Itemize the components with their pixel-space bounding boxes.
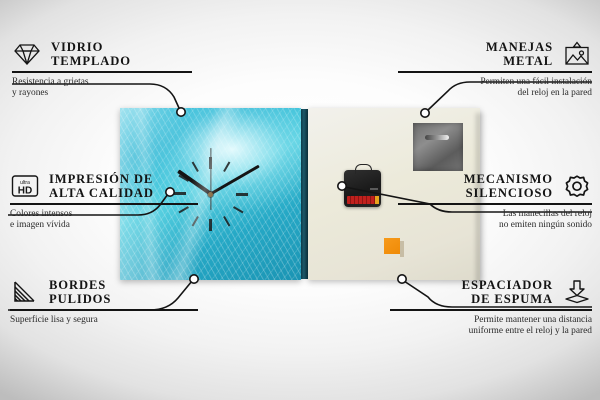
infographic-canvas: VIDRIO TEMPLADO Resistencia a grietas y …: [0, 0, 600, 400]
metal-hanger-plate: [413, 123, 463, 171]
feature-header: ESPACIADOR DE ESPUMA: [390, 278, 592, 306]
feature-subtitle-line2: uniforme entre el reloj y la pared: [390, 326, 592, 337]
feature-subtitle-line2: e imagen vívida: [10, 220, 198, 231]
feature-title: ESPACIADOR DE ESPUMA: [462, 278, 553, 306]
feature-rule: [10, 203, 198, 205]
feature-espaciador-espuma: ESPACIADOR DE ESPUMA Permite mantener un…: [390, 278, 592, 337]
feature-rule: [398, 71, 592, 73]
feature-title: IMPRESIÓN DE ALTA CALIDAD: [49, 172, 154, 200]
battery-terminal: [375, 196, 379, 204]
polished-edge-icon: [10, 279, 40, 305]
feature-subtitle-line1: Permite mantener una distancia: [390, 315, 592, 326]
feature-subtitle-line1: Colores intensos: [10, 209, 198, 220]
feature-header: ultra HD IMPRESIÓN DE ALTA CALIDAD: [10, 172, 198, 200]
feature-subtitle-line2: del reloj en la pared: [398, 88, 592, 99]
feature-title: MANEJAS METAL: [486, 40, 553, 68]
feature-subtitle-line1: Las manecillas del reloj: [398, 209, 592, 220]
foam-spacer: [384, 238, 400, 254]
feature-header: VIDRIO TEMPLADO: [12, 40, 192, 68]
feature-subtitle-line1: Superficie lisa y segura: [10, 315, 198, 326]
feature-subtitle-line2: y rayones: [12, 88, 192, 99]
foam-spacer-icon: [562, 279, 592, 305]
hanger-slot: [425, 135, 449, 140]
ultra-hd-icon: ultra HD: [10, 173, 40, 199]
gear-icon: [562, 173, 592, 199]
feature-vidrio-templado: VIDRIO TEMPLADO Resistencia a grietas y …: [12, 40, 192, 99]
feature-bordes-pulidos: BORDES PULIDOS Superficie lisa y segura: [10, 278, 198, 326]
feature-header: MANEJAS METAL: [398, 40, 592, 68]
feature-header: MECANISMO SILENCIOSO: [398, 172, 592, 200]
feature-header: BORDES PULIDOS: [10, 278, 198, 306]
silent-quartz-movement: [344, 170, 381, 207]
clock-tick-12: [210, 157, 212, 231]
feature-subtitle-line2: no emiten ningún sonido: [398, 220, 592, 231]
aa-battery: [347, 196, 378, 204]
feature-mecanismo-silencioso: MECANISMO SILENCIOSO Las manecillas del …: [398, 172, 592, 231]
clock-second-hand: [210, 148, 211, 210]
feature-title: VIDRIO TEMPLADO: [51, 40, 131, 68]
svg-text:HD: HD: [18, 186, 32, 197]
clock-center-cap: [208, 192, 213, 197]
feature-subtitle-line1: Resistencia a grietas: [12, 77, 192, 88]
feature-rule: [10, 309, 198, 311]
feature-rule: [390, 309, 592, 311]
feature-manejas-metal: MANEJAS METAL Permiten una fácil instala…: [398, 40, 592, 99]
feature-subtitle-line1: Permiten una fácil instalación: [398, 77, 592, 88]
movement-hanging-loop: [355, 164, 372, 174]
feature-title: MECANISMO SILENCIOSO: [464, 172, 553, 200]
diamond-icon: [12, 41, 42, 67]
feature-rule: [398, 203, 592, 205]
feature-impresion-alta-calidad: ultra HD IMPRESIÓN DE ALTA CALIDAD Color…: [10, 172, 198, 231]
movement-label: [370, 188, 378, 190]
feature-rule: [12, 71, 192, 73]
picture-frame-hanging-icon: [562, 41, 592, 67]
clock-tick-6: [210, 157, 212, 231]
clock-minute-hand: [210, 165, 260, 196]
glass-edge: [301, 109, 308, 279]
feature-title: BORDES PULIDOS: [49, 278, 111, 306]
